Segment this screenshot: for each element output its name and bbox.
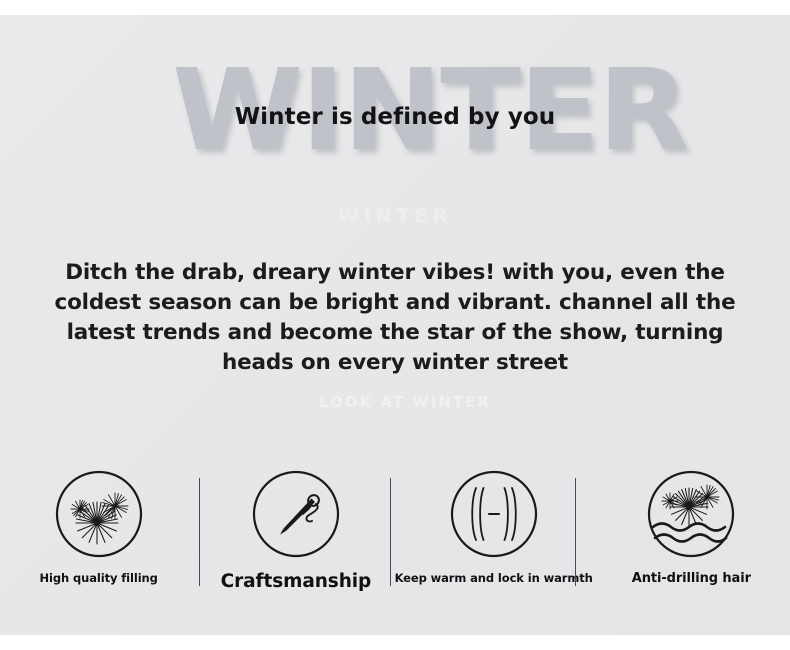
feature-divider-2 [390,478,391,586]
needle-and-thread-icon [252,470,340,558]
ghost-watermark-upper: WINTER [275,205,515,227]
feature-label: High quality filling [40,571,158,585]
down-feather-cluster-icon [55,470,143,558]
feature-label: Craftsmanship [221,571,372,592]
feature-item-anti-drilling-hair: Anti-drilling hair [593,470,790,595]
ghost-watermark-lower: LOOK AT WINTER [255,393,555,411]
feature-item-craftsmanship: Craftsmanship [197,470,394,595]
feature-label: Keep warm and lock in warmth [395,571,593,585]
feature-divider-1 [199,478,200,586]
anti-feather-leak-icon [647,470,735,558]
feature-item-keep-warm: Keep warm and lock in warmth [395,470,593,595]
feature-row: High quality filling Craftsmanship [0,470,790,595]
thermal-insulation-icon [450,470,538,558]
hero-section: WINTER Winter is defined by you WINTER [0,0,790,235]
feature-divider-3 [575,478,576,586]
feature-item-high-quality-filling: High quality filling [0,470,197,595]
feature-label: Anti-drilling hair [632,571,751,586]
page-title: Winter is defined by you [0,104,790,130]
body-copy-text: Ditch the drab, dreary winter vibes! wit… [30,258,760,378]
winter-product-banner: WINTER Winter is defined by you WINTER D… [0,0,790,650]
